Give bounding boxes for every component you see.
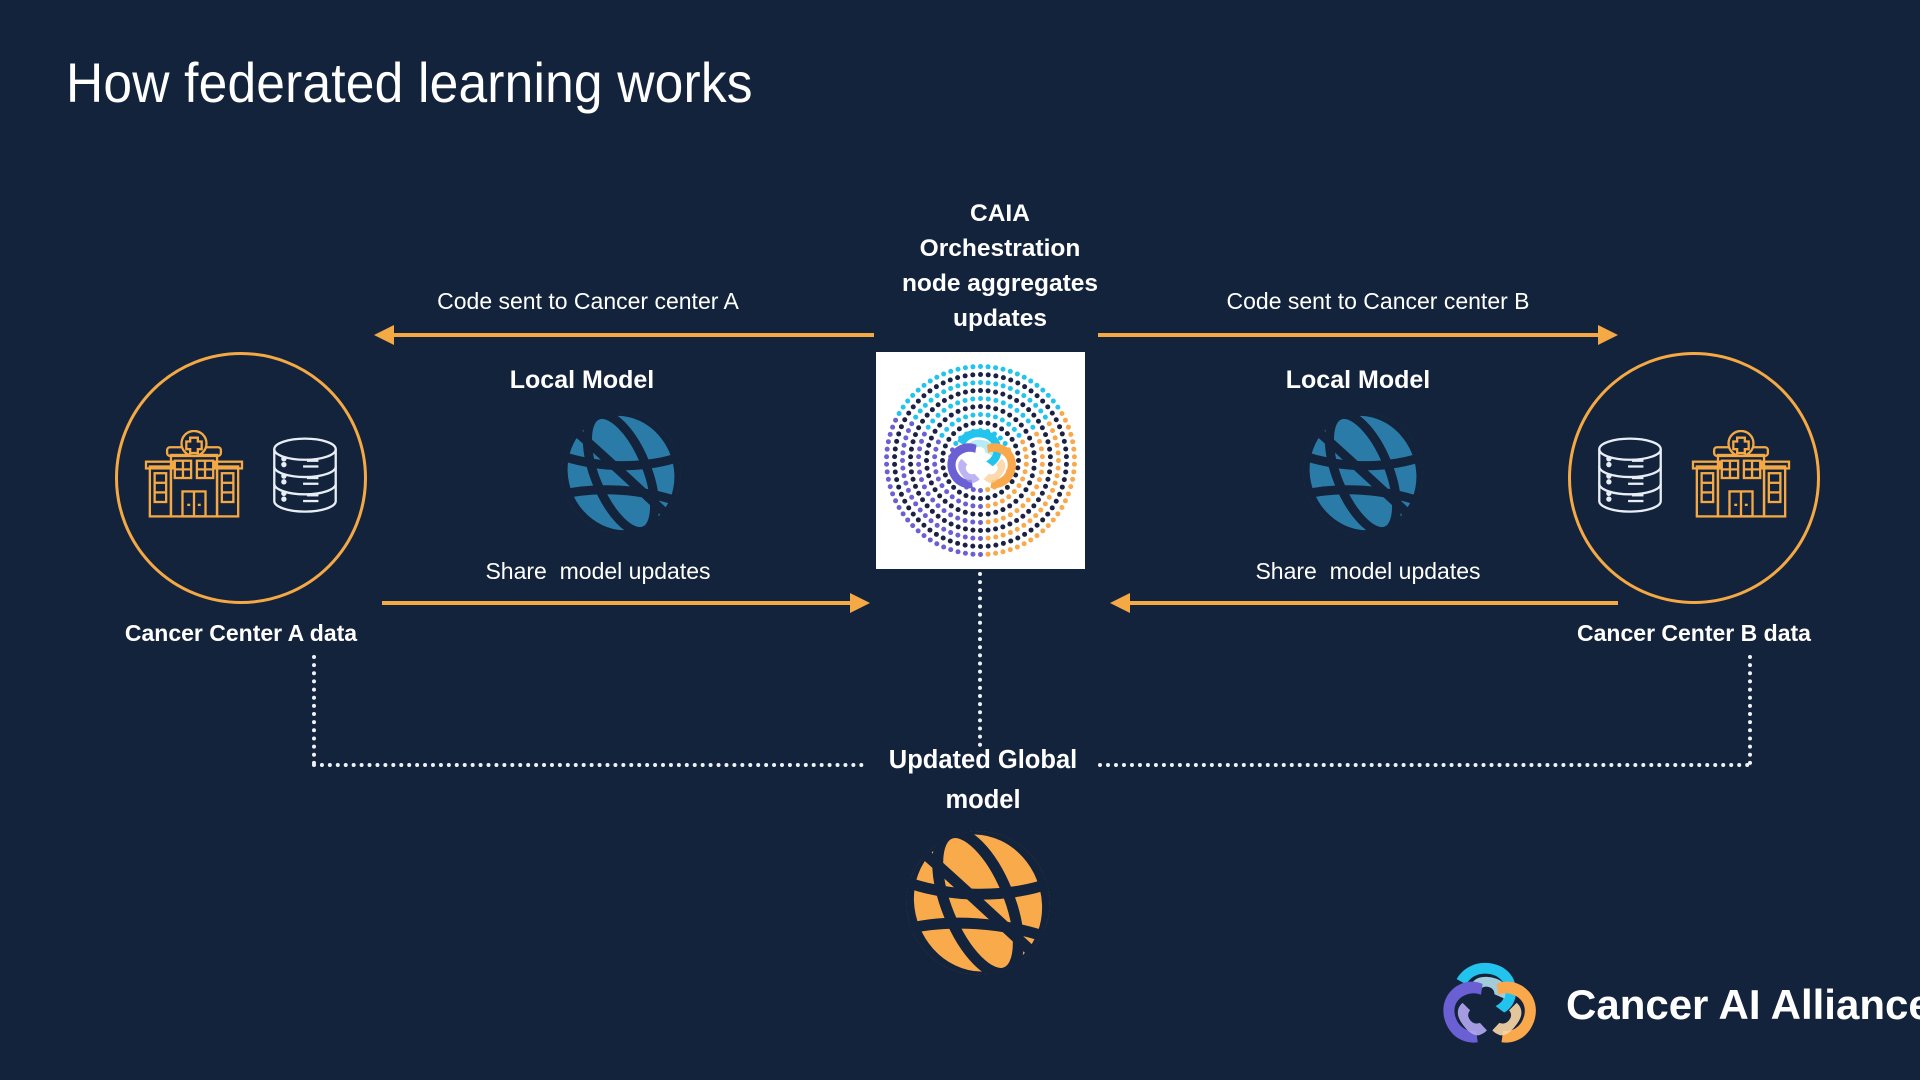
arrow-label-code-to-b: Code sent to Cancer center B — [1178, 288, 1578, 315]
cancer-center-a-node[interactable] — [115, 352, 367, 604]
cancer-center-a-label: Cancer Center A data — [103, 620, 379, 647]
dotted-line-left-vertical — [312, 655, 316, 765]
dotted-line-right-horizontal — [1098, 763, 1750, 767]
brand-name: Cancer AI Alliance — [1566, 981, 1920, 1029]
cancer-center-a-icons — [118, 355, 364, 601]
arrow-share-updates-a — [382, 590, 870, 616]
dotted-line-left-horizontal — [312, 763, 864, 767]
updated-global-model-globe — [900, 825, 1056, 981]
cancer-center-b-icons — [1571, 355, 1817, 601]
hospital-icon — [1682, 430, 1800, 526]
slide-canvas: How federated learning works CAIA Orches… — [0, 0, 1920, 1080]
dotted-line-center-vertical — [978, 572, 982, 747]
three-hands-logo-icon — [1432, 955, 1544, 1055]
hospital-icon — [135, 430, 253, 526]
local-model-globe-a — [556, 408, 686, 538]
arrow-label-share-updates-a: Share model updates — [398, 558, 798, 585]
local-model-label-b: Local Model — [1218, 366, 1498, 395]
updated-global-model-label: Updated Global model — [838, 740, 1128, 820]
brand-lockup: Cancer AI Alliance — [1432, 955, 1920, 1055]
arrow-label-code-to-a: Code sent to Cancer center A — [388, 288, 788, 315]
caia-orchestration-logo — [876, 352, 1085, 569]
database-icon — [1588, 430, 1672, 526]
cancer-center-b-node[interactable] — [1568, 352, 1820, 604]
local-model-globe-b — [1298, 408, 1428, 538]
arrow-code-to-a — [374, 322, 874, 348]
arrow-code-to-b — [1098, 322, 1618, 348]
arrow-share-updates-b — [1110, 590, 1618, 616]
page-title: How federated learning works — [66, 50, 753, 115]
local-model-label-a: Local Model — [442, 366, 722, 395]
database-icon — [263, 430, 347, 526]
cancer-center-b-label: Cancer Center B data — [1556, 620, 1832, 647]
arrow-label-share-updates-b: Share model updates — [1168, 558, 1568, 585]
caia-node-caption: CAIA Orchestration node aggregates updat… — [845, 196, 1155, 336]
dotted-line-right-vertical — [1748, 655, 1752, 765]
